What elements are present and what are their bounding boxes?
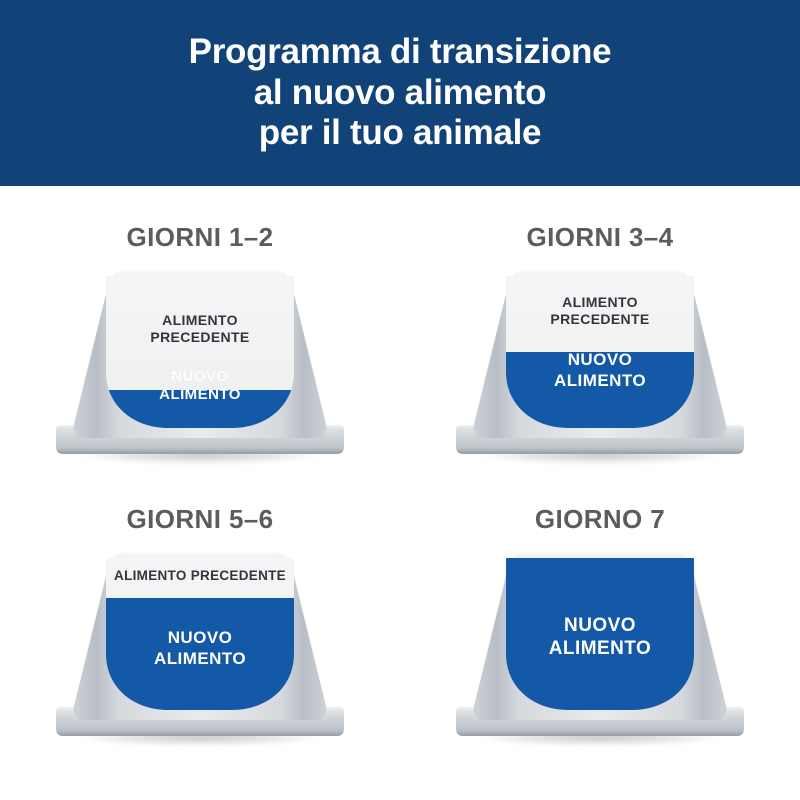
- new-food-fill-1: [96, 390, 304, 434]
- transition-steps-grid: GIORNI 1–2: [0, 186, 800, 800]
- food-bowl-4: NUOVO ALIMENTO: [450, 546, 750, 754]
- bowl-food-window: [496, 558, 704, 716]
- new-food-fill-2: [496, 352, 704, 434]
- bowl-food-window: [496, 276, 704, 434]
- infographic-page: Programma di transizione al nuovo alimen…: [0, 0, 800, 800]
- transition-step-2: GIORNI 3–4: [400, 204, 800, 494]
- header-banner: Programma di transizione al nuovo alimen…: [0, 0, 800, 186]
- step-4-title: GIORNO 7: [400, 504, 800, 535]
- food-bowl-1: ALIMENTO PRECEDENTE NUOVO ALIMENTO: [50, 264, 350, 472]
- food-bowl-2: ALIMENTO PRECEDENTE NUOVO ALIMENTO: [450, 264, 750, 472]
- transition-step-1: GIORNI 1–2: [0, 204, 400, 494]
- step-2-title: GIORNI 3–4: [400, 222, 800, 253]
- new-food-fill-3: [96, 598, 304, 716]
- transition-step-4: GIORNO 7: [400, 486, 800, 776]
- new-food-fill-4: [496, 558, 704, 716]
- bowl-food-window: [96, 276, 304, 434]
- step-3-title: GIORNI 5–6: [0, 504, 400, 535]
- bowl-food-window: [96, 558, 304, 716]
- page-title: Programma di transizione al nuovo alimen…: [159, 32, 642, 154]
- transition-step-3: GIORNI 5–6: [0, 486, 400, 776]
- food-bowl-3: ALIMENTO PRECEDENTE NUOVO ALIMENTO: [50, 546, 350, 754]
- step-1-title: GIORNI 1–2: [0, 222, 400, 253]
